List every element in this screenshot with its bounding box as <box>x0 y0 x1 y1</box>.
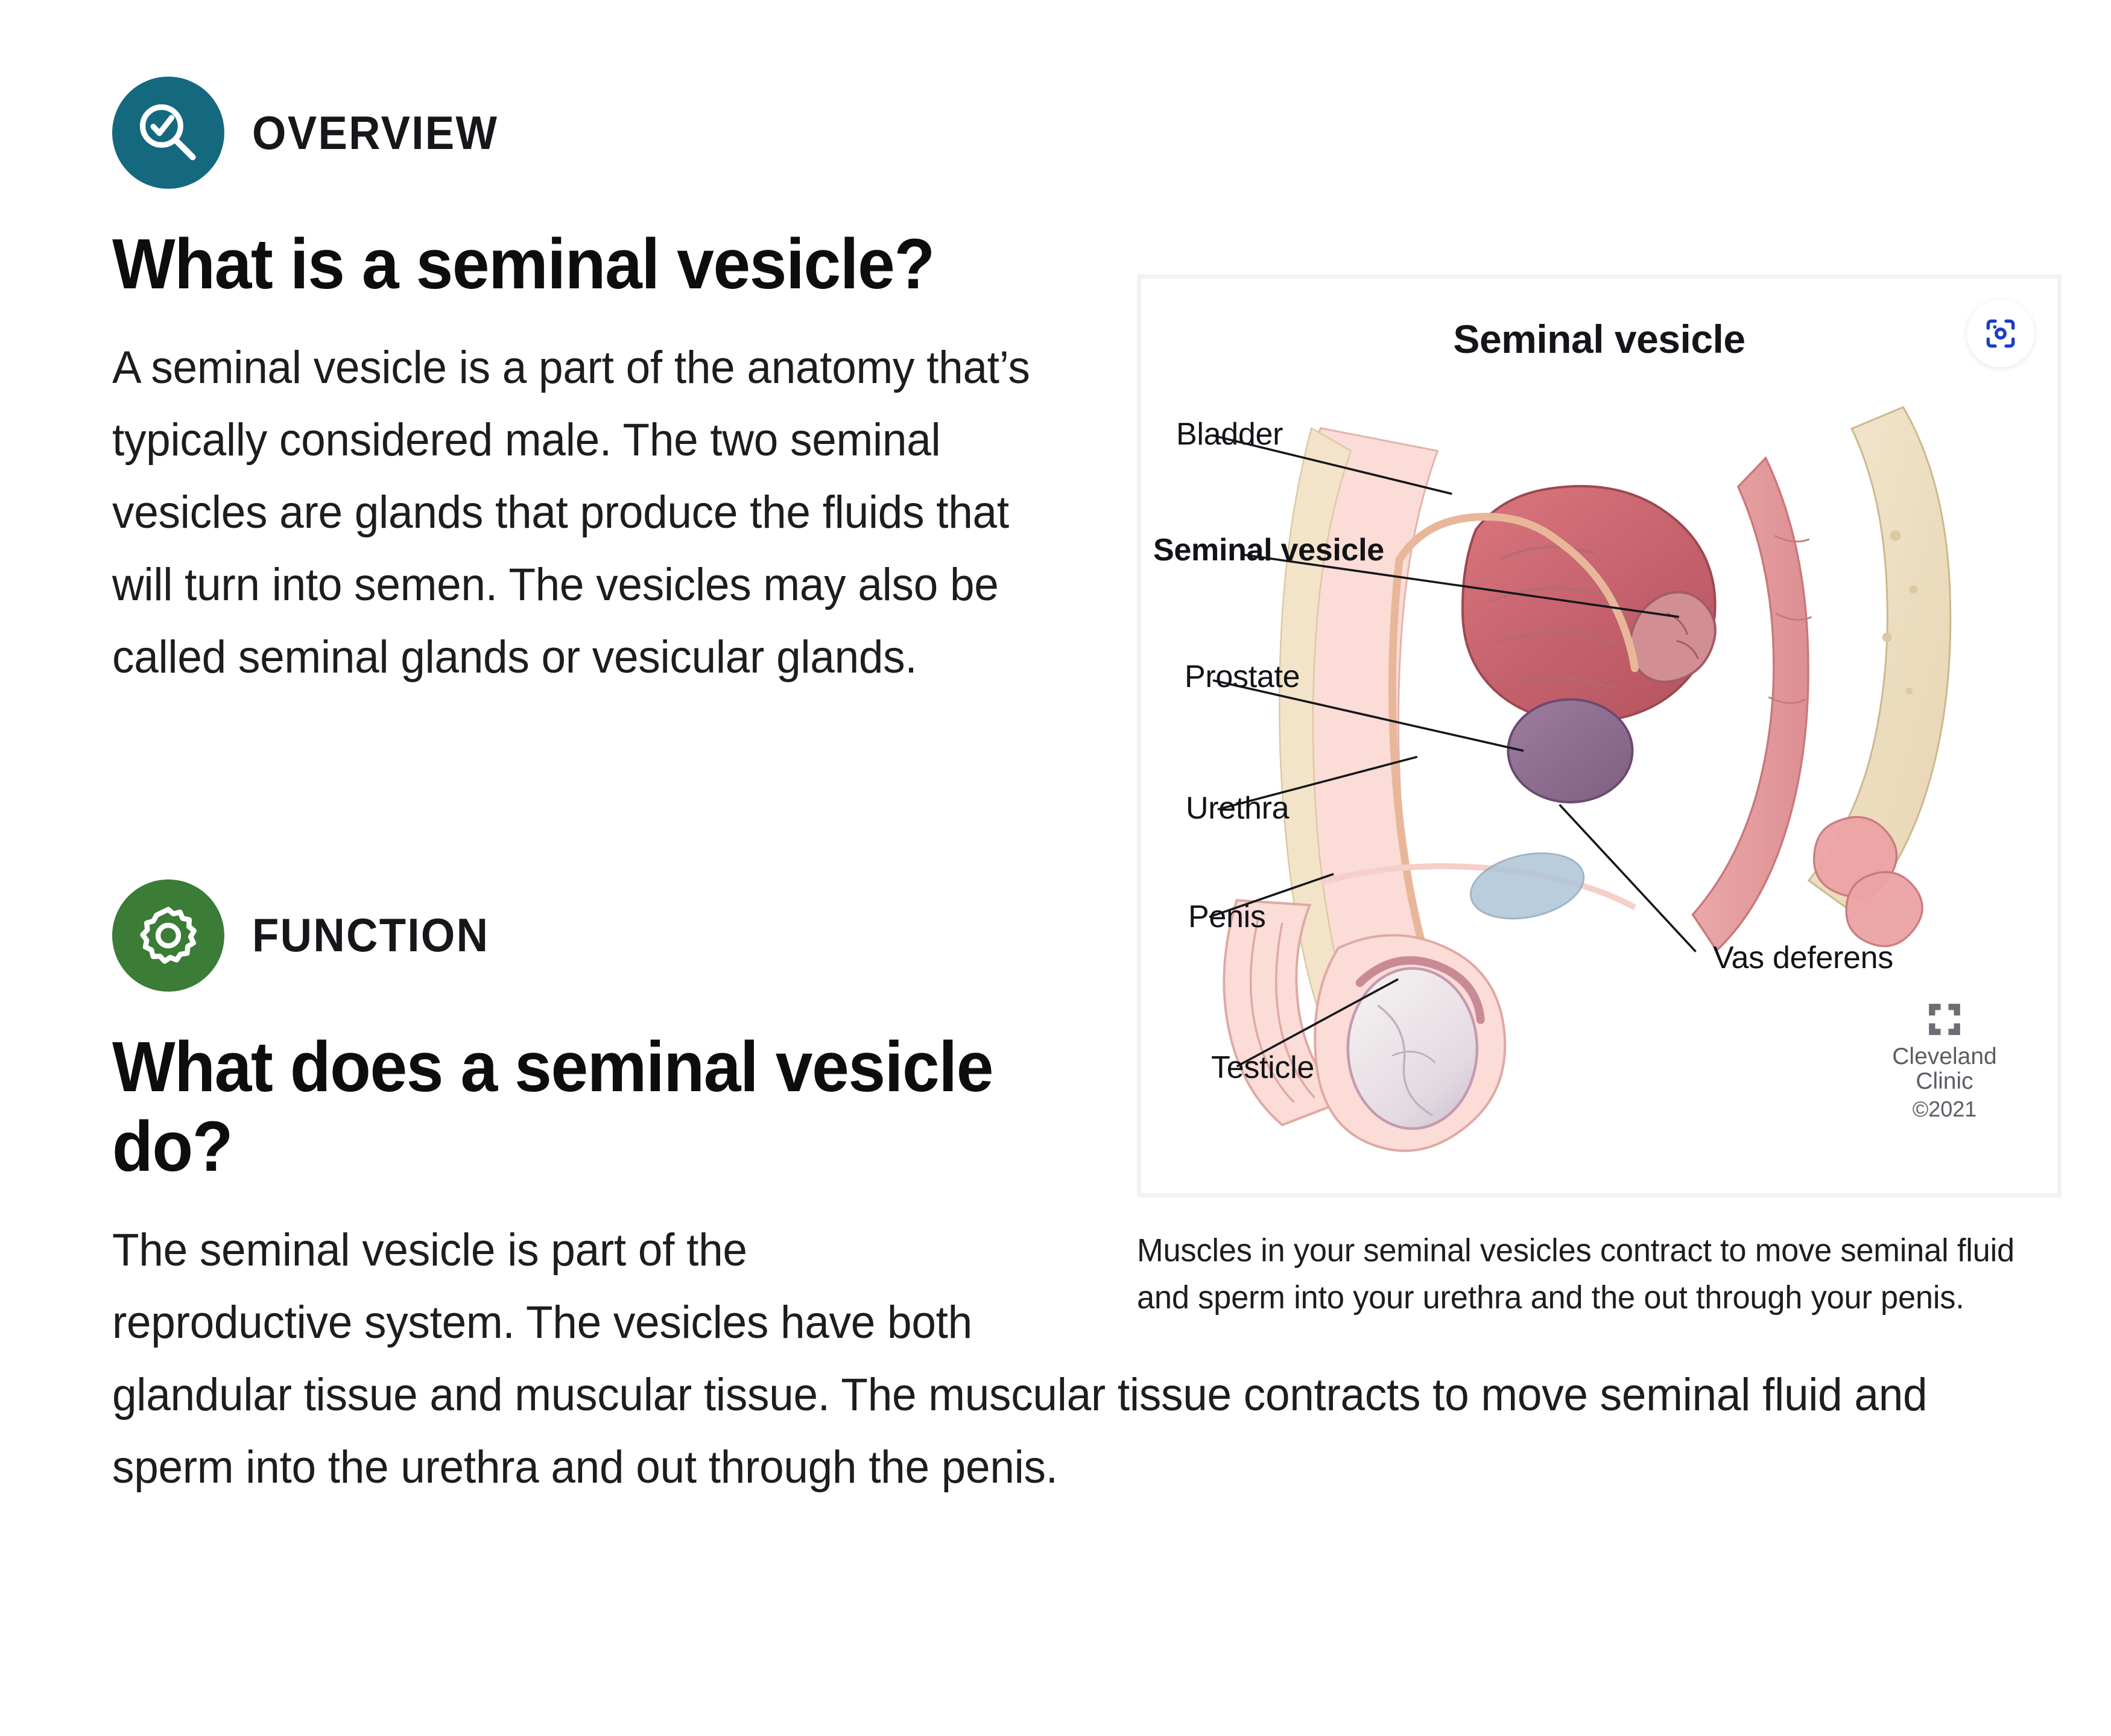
diagram-label-urethra: Urethra <box>1186 790 1289 826</box>
figure-caption: Muscles in your seminal vesicles contrac… <box>1137 1228 2041 1322</box>
cleveland-clinic-logo <box>1926 1001 1963 1038</box>
anatomy-figure-card: Seminal vesicle <box>1137 274 2062 1197</box>
diagram-label-prostate: Prostate <box>1185 659 1300 695</box>
diagram-label-bladder: Bladder <box>1176 416 1283 452</box>
diagram-label-seminal-vesicle: Seminal vesicle <box>1153 532 1384 568</box>
magnifier-check-icon <box>133 97 204 168</box>
diagram-label-penis: Penis <box>1188 899 1266 935</box>
diagram-label-vas-deferens: Vas deferens <box>1713 940 1893 976</box>
article-page: OVERVIEW What is a seminal vesicle? A se… <box>0 0 2111 1736</box>
function-badge <box>112 879 224 992</box>
overview-badge <box>112 77 224 189</box>
function-heading: What does a seminal vesicle do? <box>112 1027 1076 1186</box>
overview-body: A seminal vesicle is a part of the anato… <box>112 332 1039 694</box>
gear-icon <box>133 900 204 971</box>
function-kicker-label: FUNCTION <box>252 908 489 963</box>
cc-copyright: ©2021 <box>1875 1097 2014 1122</box>
cc-line-1: Cleveland <box>1875 1044 2014 1069</box>
diagram-label-testicle: Testicle <box>1211 1050 1314 1086</box>
cc-line-2: Clinic <box>1875 1069 2014 1094</box>
section-kicker-overview: OVERVIEW <box>112 72 2024 193</box>
overview-kicker-label: OVERVIEW <box>252 106 498 160</box>
cleveland-clinic-attribution: Cleveland Clinic ©2021 <box>1875 1001 2014 1122</box>
